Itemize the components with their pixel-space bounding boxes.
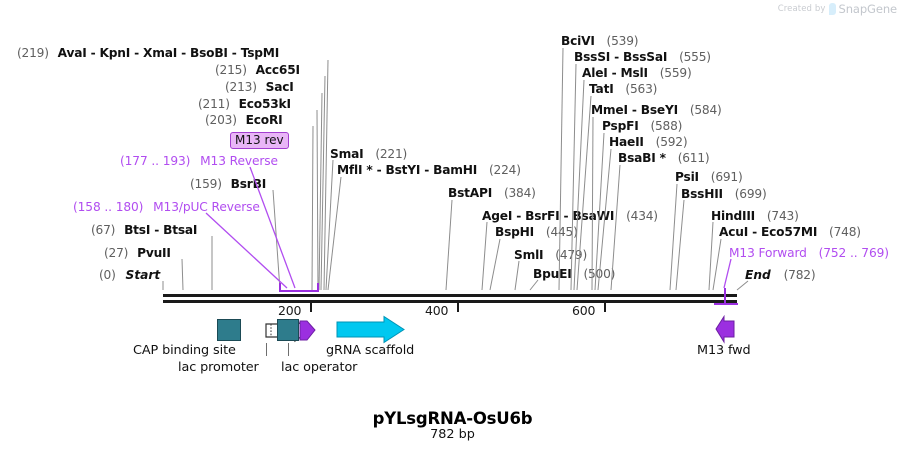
site-names: BpuEI xyxy=(533,267,572,281)
primer-name: M13 Forward xyxy=(729,246,807,260)
primer-bar-m13-forward[interactable] xyxy=(714,303,738,305)
site-label-mmei[interactable]: MmeI - BseYI (584) xyxy=(591,103,722,117)
site-position: (611) xyxy=(678,151,710,165)
feature-m13-fwd-arrow[interactable] xyxy=(714,315,736,345)
site-names: TatI xyxy=(589,82,614,96)
backbone-line-bottom xyxy=(163,300,737,303)
site-position: (27) xyxy=(104,246,128,260)
watermark-prefix: Created by xyxy=(778,4,826,14)
site-names: MmeI - BseYI xyxy=(591,103,678,117)
primer-bar-m13-reverse[interactable] xyxy=(279,290,319,292)
site-names: HindIII xyxy=(711,209,755,223)
ruler-label-200: 200 xyxy=(278,303,301,318)
feature-label-cap-binding-site[interactable]: CAP binding site xyxy=(133,344,236,358)
site-label-bpuei[interactable]: BpuEI (500) xyxy=(533,267,615,281)
site-label-bsssi[interactable]: BssSI - BssSaI (555) xyxy=(574,50,711,64)
site-position: (445) xyxy=(546,225,578,239)
primer-range: (177 .. 193) xyxy=(120,154,190,168)
snapgene-watermark: Created by SnapGene xyxy=(778,2,897,16)
m13-rev-badge[interactable]: M13 rev xyxy=(230,132,289,149)
site-label-haeii[interactable]: HaeII (592) xyxy=(609,135,687,149)
primer-range: (158 .. 180) xyxy=(73,200,143,214)
site-position: (588) xyxy=(650,119,682,133)
site-label-eco53ki[interactable]: (211) Eco53kI xyxy=(198,97,291,111)
site-label-avai-group[interactable]: (219) AvaI - KpnI - XmaI - BsoBI - TspMI xyxy=(17,46,279,60)
site-names: Acc65I xyxy=(256,63,300,77)
site-label-smai[interactable]: SmaI (221) xyxy=(330,147,407,161)
site-names: PsiI xyxy=(675,170,699,184)
site-names: BsaBI * xyxy=(618,151,666,165)
feature-lac-operator[interactable] xyxy=(277,319,299,341)
watermark-brand: SnapGene xyxy=(839,2,898,16)
site-names: Eco53kI xyxy=(239,97,291,111)
feature-leader-lac-promoter xyxy=(266,343,267,356)
site-label-end[interactable]: End (782) xyxy=(745,268,815,282)
site-label-bsabi[interactable]: BsaBI * (611) xyxy=(618,151,709,165)
ruler-tick-200 xyxy=(310,303,312,312)
primer-tick-m13-rev-left xyxy=(279,283,281,291)
site-label-bsshii[interactable]: BssHII (699) xyxy=(681,187,767,201)
site-names: BstAPI xyxy=(448,186,492,200)
site-position: (691) xyxy=(711,170,743,184)
m13-rev-badge-label: M13 rev xyxy=(235,133,284,147)
site-label-bsrbi[interactable]: (159) BsrBI xyxy=(190,177,266,191)
site-label-mfli[interactable]: MflI * - BstYI - BamHI (224) xyxy=(337,163,521,177)
site-position: (219) xyxy=(17,46,49,60)
site-names: HaeII xyxy=(609,135,644,149)
primer-tick-m13-rev-right xyxy=(317,283,319,291)
site-names: PspFI xyxy=(602,119,639,133)
site-position: (479) xyxy=(555,248,587,262)
feature-label-m13-fwd[interactable]: M13 fwd xyxy=(697,344,751,358)
site-names: EcoRI xyxy=(246,113,283,127)
site-names: AleI - MslI xyxy=(582,66,648,80)
site-position: (743) xyxy=(767,209,799,223)
site-label-hindiii[interactable]: HindIII (743) xyxy=(711,209,799,223)
site-label-btsi[interactable]: (67) BtsI - BtsaI xyxy=(91,223,197,237)
site-names: MflI * - BstYI - BamHI xyxy=(337,163,477,177)
feature-leader-lac-operator xyxy=(288,343,289,356)
site-label-bstapi[interactable]: BstAPI (384) xyxy=(448,186,536,200)
ruler-tick-600 xyxy=(604,303,606,312)
site-position: (699) xyxy=(735,187,767,201)
ruler-label-400: 400 xyxy=(425,303,448,318)
site-names: BssSI - BssSaI xyxy=(574,50,667,64)
site-label-smli[interactable]: SmlI (479) xyxy=(514,248,587,262)
site-position: (215) xyxy=(215,63,247,77)
site-position: (559) xyxy=(660,66,692,80)
feature-label-grna-scaffold[interactable]: gRNA scaffold xyxy=(326,344,414,358)
site-names: End xyxy=(745,268,771,282)
feature-cap-binding-site[interactable] xyxy=(217,319,241,341)
site-position: (67) xyxy=(91,223,115,237)
site-names: AcuI - Eco57MI xyxy=(719,225,817,239)
site-label-alei[interactable]: AleI - MslI (559) xyxy=(582,66,692,80)
primer-name: M13/pUC Reverse xyxy=(153,200,260,214)
site-label-ecori[interactable]: (203) EcoRI xyxy=(205,113,283,127)
ruler-tick-400 xyxy=(457,303,459,312)
feature-grna-scaffold[interactable] xyxy=(336,315,406,345)
site-label-bsphi[interactable]: BspHI (445) xyxy=(495,225,578,239)
site-label-agei[interactable]: AgeI - BsrFI - BsaWI (434) xyxy=(482,209,658,223)
plasmid-name-title: pYLsgRNA-OsU6b xyxy=(0,409,905,428)
site-label-saci[interactable]: (213) SacI xyxy=(225,80,294,94)
primer-tick-m13-fwd xyxy=(724,288,726,305)
feature-m13-rev-arrow[interactable] xyxy=(299,318,317,343)
site-label-pspfi[interactable]: PspFI (588) xyxy=(602,119,682,133)
site-position: (748) xyxy=(829,225,861,239)
primer-label-m13-reverse[interactable]: (177 .. 193) M13 Reverse xyxy=(120,154,278,168)
site-names: AgeI - BsrFI - BsaWI xyxy=(482,209,614,223)
site-label-tati[interactable]: TatI (563) xyxy=(589,82,657,96)
site-names: AvaI - KpnI - XmaI - BsoBI - TspMI xyxy=(58,46,279,60)
primer-name: M13 Reverse xyxy=(200,154,278,168)
site-position: (592) xyxy=(656,135,688,149)
plasmid-size-label: 782 bp xyxy=(0,427,905,442)
ruler-label-600: 600 xyxy=(572,303,595,318)
site-names: SmaI xyxy=(330,147,363,161)
site-position: (563) xyxy=(625,82,657,96)
site-label-bcivi[interactable]: BciVI (539) xyxy=(561,34,638,48)
site-position: (782) xyxy=(784,268,816,282)
site-position: (159) xyxy=(190,177,222,191)
site-position: (211) xyxy=(198,97,230,111)
site-names: Start xyxy=(126,268,161,282)
site-position: (500) xyxy=(583,267,615,281)
site-names: BspHI xyxy=(495,225,534,239)
snapgene-logo-icon xyxy=(829,3,836,15)
feature-label-lac-promoter[interactable]: lac promoter xyxy=(178,361,259,375)
site-label-acc65i[interactable]: (215) Acc65I xyxy=(215,63,300,77)
site-names: SmlI xyxy=(514,248,543,262)
site-names: BciVI xyxy=(561,34,595,48)
site-names: PvuII xyxy=(137,246,171,260)
site-position: (384) xyxy=(504,186,536,200)
site-position: (434) xyxy=(626,209,658,223)
site-label-psii[interactable]: PsiI (691) xyxy=(675,170,743,184)
site-position: (0) xyxy=(99,268,116,282)
backbone-line-top xyxy=(163,294,737,297)
site-position: (213) xyxy=(225,80,257,94)
site-position: (555) xyxy=(679,50,711,64)
site-position: (539) xyxy=(607,34,639,48)
site-names: BsrBI xyxy=(231,177,266,191)
site-position: (584) xyxy=(690,103,722,117)
site-label-acui[interactable]: AcuI - Eco57MI (748) xyxy=(719,225,861,239)
site-names: BssHII xyxy=(681,187,723,201)
site-label-start[interactable]: (0) Start xyxy=(99,268,160,282)
primer-label-m13-forward[interactable]: M13 Forward (752 .. 769) xyxy=(729,246,889,260)
site-label-pvuii[interactable]: (27) PvuII xyxy=(104,246,171,260)
site-position: (221) xyxy=(375,147,407,161)
site-position: (224) xyxy=(489,163,521,177)
site-position: (203) xyxy=(205,113,237,127)
primer-label-m13-puc-reverse[interactable]: (158 .. 180) M13/pUC Reverse xyxy=(73,200,260,214)
site-names: SacI xyxy=(266,80,294,94)
site-names: BtsI - BtsaI xyxy=(124,223,197,237)
feature-label-lac-operator[interactable]: lac operator xyxy=(281,361,357,375)
primer-range: (752 .. 769) xyxy=(819,246,889,260)
